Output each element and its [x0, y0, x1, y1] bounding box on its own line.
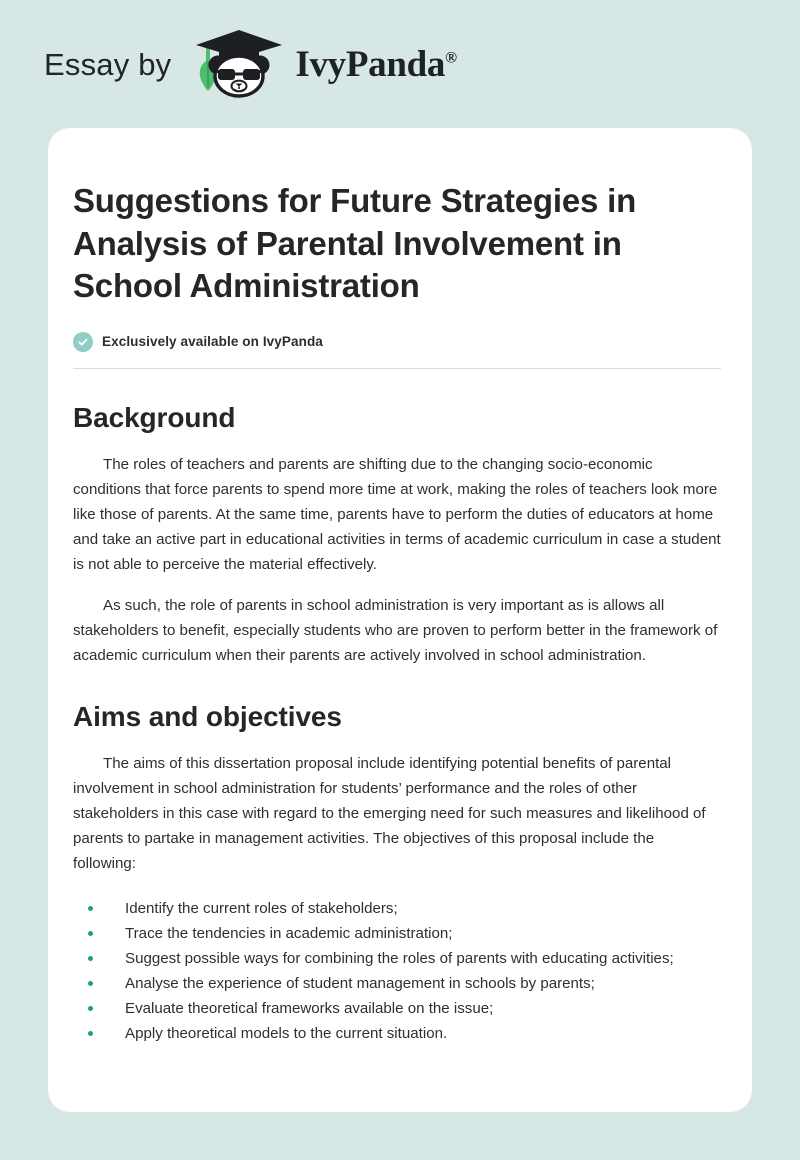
header-divider — [73, 368, 721, 369]
brand-header: Essay by — [0, 0, 800, 128]
check-circle-icon — [73, 332, 93, 352]
list-item: Trace the tendencies in academic adminis… — [73, 921, 721, 946]
essay-by-label: Essay by — [44, 49, 171, 80]
list-item: Identify the current roles of stakeholde… — [73, 896, 721, 921]
list-item: Suggest possible ways for combining the … — [73, 946, 721, 971]
objectives-list: Identify the current roles of stakeholde… — [73, 896, 721, 1046]
ivypanda-wordmark: IvyPanda® — [295, 46, 456, 83]
document-card: Suggestions for Future Strategies in Ana… — [48, 128, 752, 1112]
page-title: Suggestions for Future Strategies in Ana… — [73, 180, 673, 308]
wordmark-text: IvyPanda — [295, 44, 445, 85]
panda-graduate-icon — [185, 30, 293, 98]
status-badge-label: Exclusively available on IvyPanda — [102, 334, 323, 349]
paragraph: As such, the role of parents in school a… — [73, 593, 721, 668]
paragraph: The aims of this dissertation proposal i… — [73, 751, 721, 876]
section-heading-aims-and-objectives: Aims and objectives — [73, 701, 721, 733]
exclusive-availability-badge: Exclusively available on IvyPanda — [73, 332, 721, 352]
list-item: Analyse the experience of student manage… — [73, 971, 721, 996]
list-item: Apply theoretical models to the current … — [73, 1021, 721, 1046]
paragraph: The roles of teachers and parents are sh… — [73, 452, 721, 577]
list-item: Evaluate theoretical frameworks availabl… — [73, 996, 721, 1021]
registered-trademark-icon: ® — [445, 49, 457, 66]
ivypanda-logo[interactable]: IvyPanda® — [185, 30, 456, 98]
section-heading-background: Background — [73, 402, 721, 434]
